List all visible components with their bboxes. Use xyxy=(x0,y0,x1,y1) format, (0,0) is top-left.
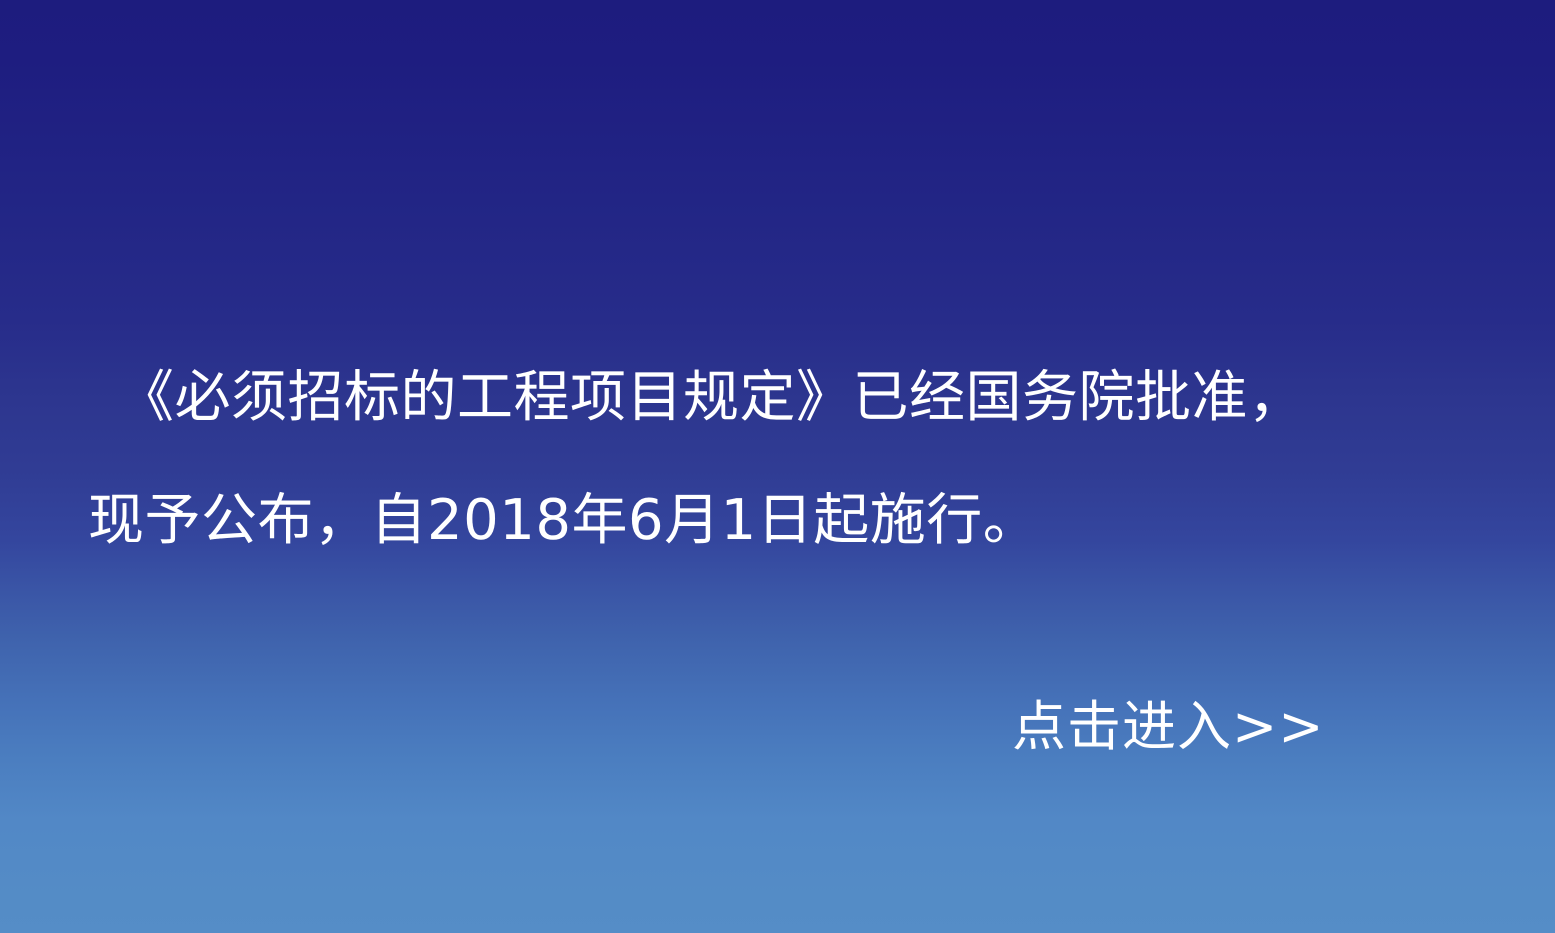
announcement-line-1: 《必须招标的工程项目规定》已经国务院批准， xyxy=(88,336,1478,459)
promo-banner: 《必须招标的工程项目规定》已经国务院批准， 现予公布，自2018年6月1日起施行… xyxy=(0,0,1555,933)
enter-link[interactable]: 点击进入>> xyxy=(1012,692,1325,762)
announcement-copy: 《必须招标的工程项目规定》已经国务院批准， 现予公布，自2018年6月1日起施行… xyxy=(88,336,1478,582)
announcement-line-2: 现予公布，自2018年6月1日起施行。 xyxy=(88,459,1478,582)
